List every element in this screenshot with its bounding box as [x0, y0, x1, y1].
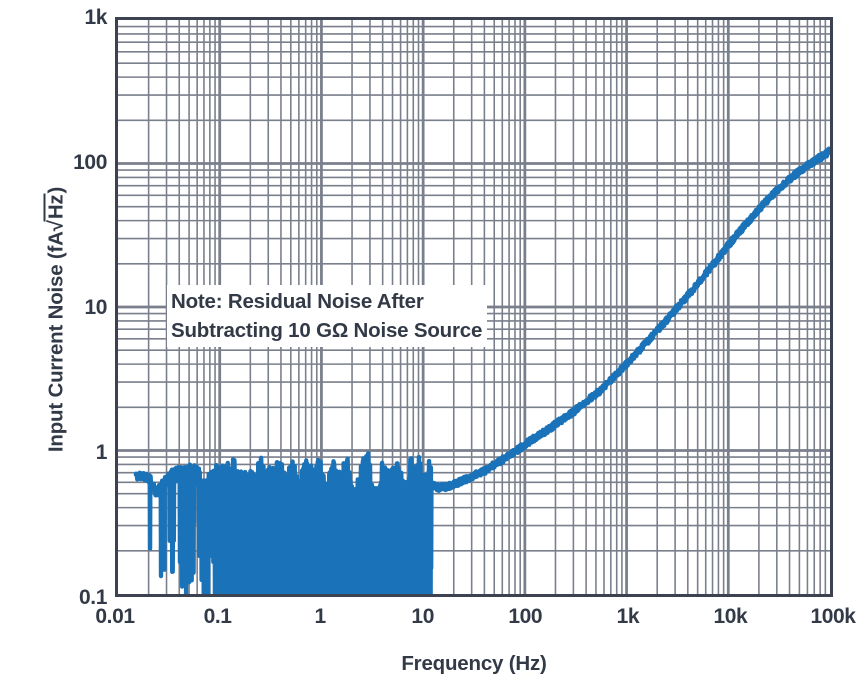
- x-axis-tick-label: 10k: [714, 606, 748, 627]
- y-axis-title-text: Input Current Noise (fA: [45, 231, 68, 452]
- x-axis-title: Frequency (Hz): [115, 652, 833, 676]
- residual-noise-note: Note: Residual Noise After Subtracting 1…: [167, 285, 487, 347]
- x-axis-tick-label: 10: [411, 606, 434, 627]
- y-axis-tick-label: 1k: [84, 7, 107, 28]
- chart-figure: 0.11101001k Input Current Noise (fA√Hz) …: [0, 0, 865, 684]
- plot-area: Note: Residual Noise After Subtracting 1…: [115, 17, 833, 597]
- radical-symbol: √: [45, 220, 68, 231]
- x-axis-tick-label: 0.01: [95, 606, 134, 627]
- input-current-noise-trace: [136, 149, 830, 594]
- y-axis-tick-label: 1: [96, 442, 107, 463]
- y-axis-tick-label: 100: [73, 152, 107, 173]
- y-axis-title-radicand: Hz: [44, 194, 68, 222]
- note-line-1: Note: Residual Noise After: [171, 287, 482, 316]
- x-axis-tick-label: 0.1: [204, 606, 232, 627]
- y-axis-title-paren: ): [45, 187, 68, 194]
- note-line-2: Subtracting 10 GΩ Noise Source: [171, 316, 482, 345]
- x-axis-tick-label: 1: [315, 606, 326, 627]
- x-axis-tick-label: 100k: [810, 606, 855, 627]
- y-axis-title: Input Current Noise (fA√Hz): [44, 40, 69, 600]
- x-axis-tick-label: 100: [508, 606, 542, 627]
- y-axis-tick-label: 10: [84, 297, 107, 318]
- x-axis-tick-label: 1k: [617, 606, 640, 627]
